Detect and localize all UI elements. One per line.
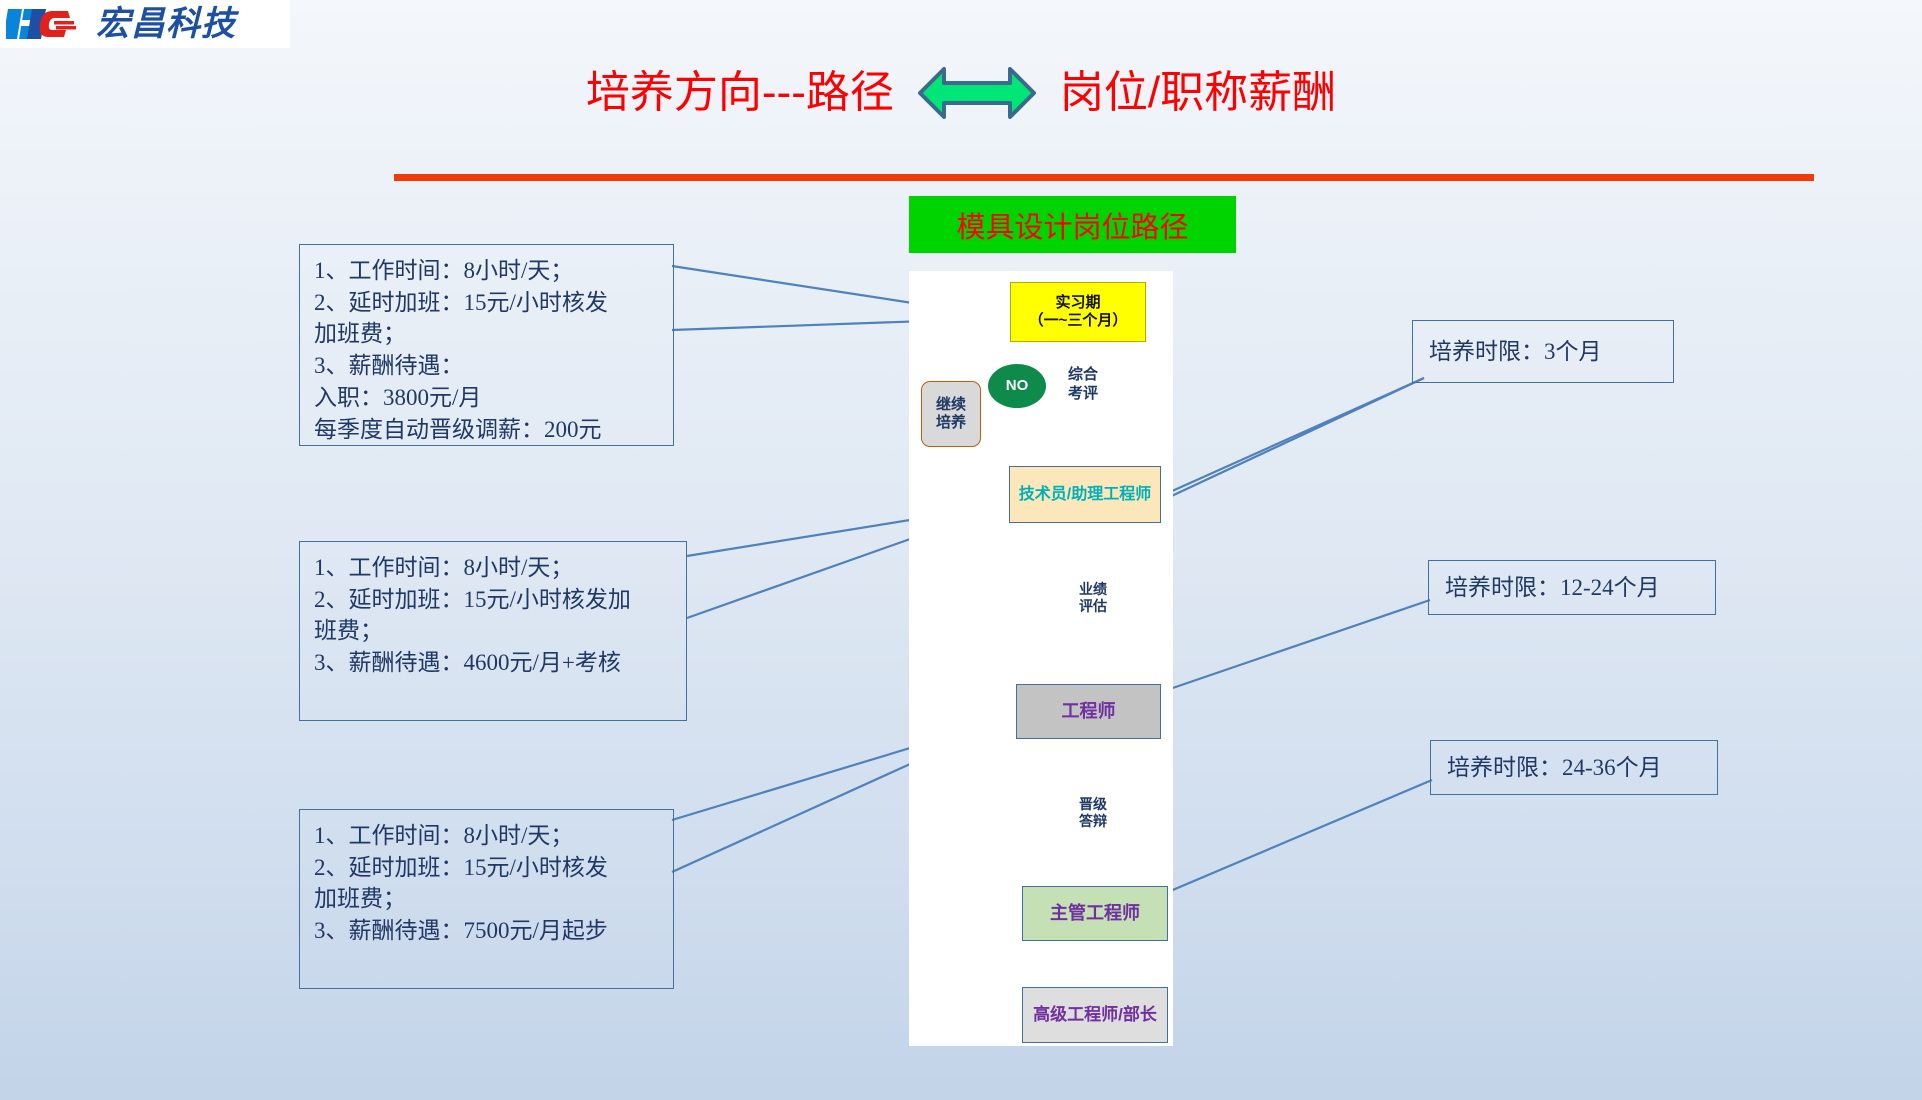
path-banner: 模具设计岗位路径 [909, 196, 1236, 253]
flow-node-technician[interactable]: 技术员/助理工程师 [1009, 466, 1161, 523]
company-logo: 宏昌科技 [0, 0, 290, 48]
title-divider [394, 174, 1814, 181]
flow-node-continue-training[interactable]: 继续 培养 [921, 381, 981, 447]
title-right: 岗位/职称薪酬 [1060, 69, 1336, 117]
flow-node-comprehensive-assessment[interactable]: 综合 考评 [1043, 355, 1123, 415]
double-arrow-icon [916, 62, 1038, 124]
flow-node-senior-engineer[interactable]: 高级工程师/部长 [1022, 987, 1168, 1043]
slide-title: 培养方向---路径 岗位/职称薪酬 [0, 62, 1922, 124]
flow-node-promotion-defense[interactable]: 晋级 答辩 [1053, 785, 1133, 841]
callout-term-engineer: 培养时限：24-36个月 [1430, 740, 1718, 795]
path-banner-label: 模具设计岗位路径 [956, 204, 1188, 246]
callout-intern-terms: 1、工作时间：8小时/天； 2、延时加班：15元/小时核发 加班费； 3、薪酬待… [299, 244, 674, 446]
flow-node-performance-evaluation[interactable]: 业绩 评估 [1053, 570, 1133, 626]
title-left: 培养方向---路径 [586, 69, 894, 117]
callout-term-intern: 培养时限：3个月 [1412, 320, 1674, 383]
hc-monogram-icon [6, 3, 92, 45]
callout-tech-terms: 1、工作时间：8小时/天； 2、延时加班：15元/小时核发加 班费； 3、薪酬待… [299, 541, 687, 721]
flow-node-engineer[interactable]: 工程师 [1016, 684, 1161, 739]
flow-node-intern[interactable]: 实习期 （一~三个月） [1010, 282, 1146, 342]
flow-node-lead-engineer[interactable]: 主管工程师 [1022, 886, 1168, 941]
callout-engineer-terms: 1、工作时间：8小时/天； 2、延时加班：15元/小时核发 加班费； 3、薪酬待… [299, 809, 674, 989]
callout-term-tech: 培养时限：12-24个月 [1428, 560, 1716, 615]
company-name: 宏昌科技 [96, 7, 236, 41]
flow-node-no[interactable]: NO [988, 364, 1046, 408]
slide-canvas: 宏昌科技 培养方向---路径 岗位/职称薪酬 模具设计岗位路径 1、工作时间：8… [0, 0, 1922, 1100]
